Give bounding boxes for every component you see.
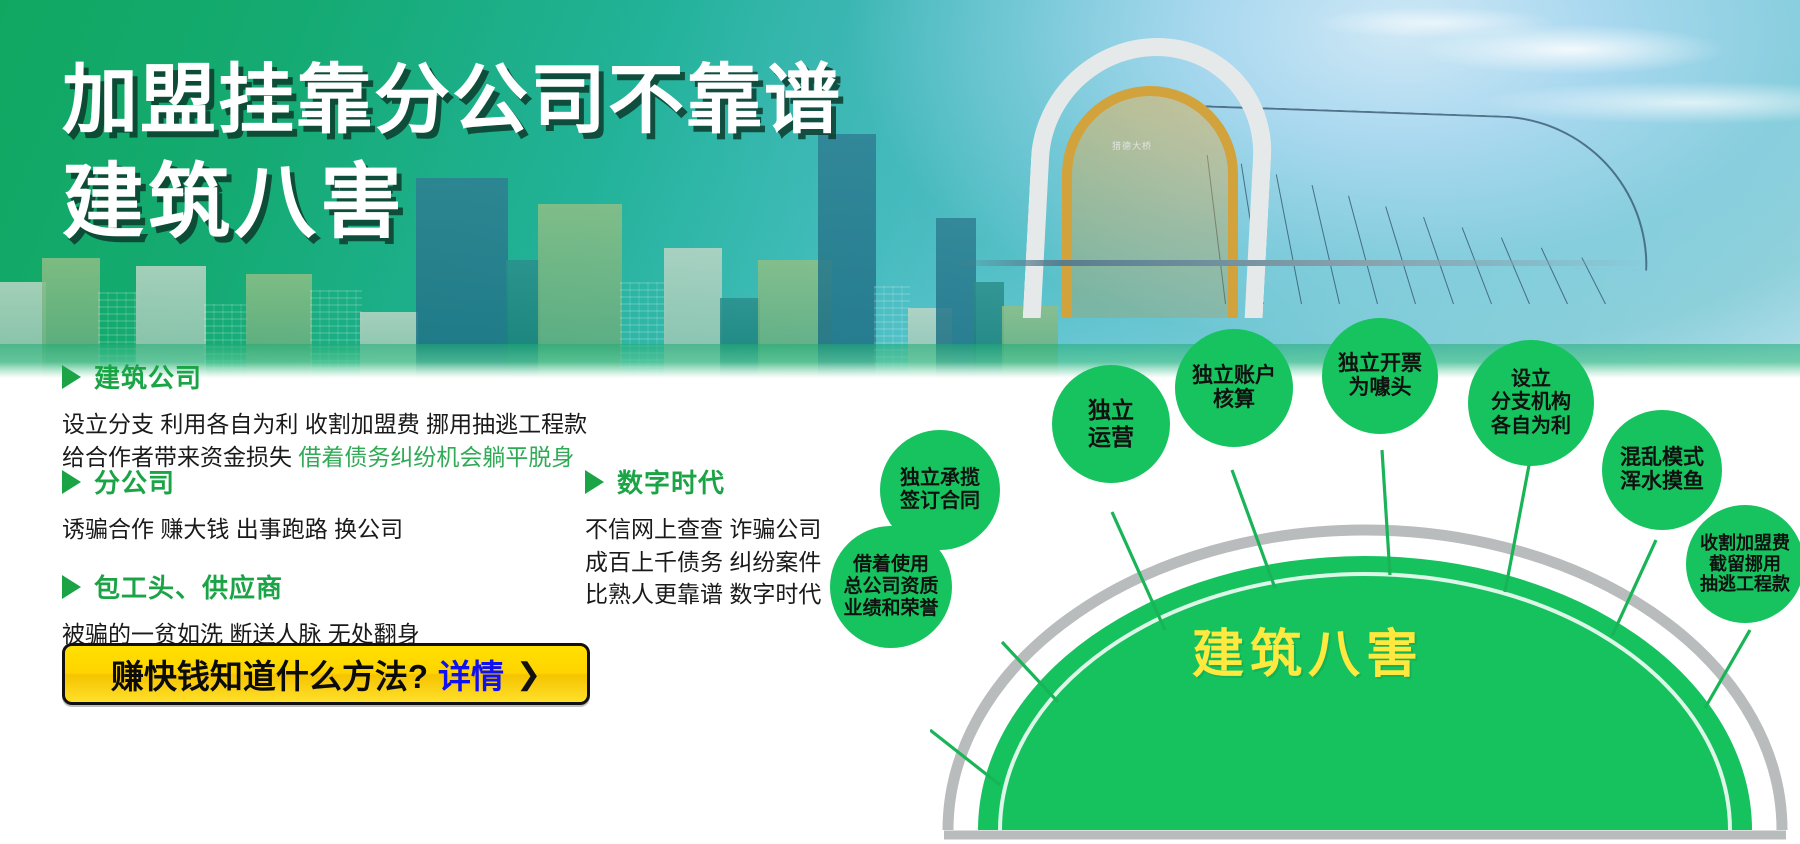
section-title: 建筑公司 <box>94 358 202 395</box>
section-header: 建筑公司 <box>62 358 587 395</box>
body-line-text: 不信网上查查 诈骗公司 <box>585 516 821 542</box>
section-header: 包工头、供应商 <box>62 568 420 605</box>
cta-link-label[interactable]: 详情 <box>438 650 504 698</box>
hero-title-block: 加盟挂靠分公司不靠谱 建筑八害 <box>62 58 842 249</box>
body-line-text: 比熟人更靠谱 数字时代 <box>585 581 821 607</box>
connector-n6 <box>1505 460 1530 592</box>
bridge-deck <box>950 260 1650 266</box>
section-body: 诱骗合作 赚大钱 出事跑路 换公司 <box>62 513 403 546</box>
node-label: 借着使用总公司资质业绩和荣誉 <box>843 554 938 620</box>
triangle-marker-icon <box>585 470 604 494</box>
body-line-text: 成百上千债务 纠纷案件 <box>585 549 821 575</box>
section-header: 数字时代 <box>585 463 821 500</box>
section-title: 数字时代 <box>617 463 725 500</box>
hero-headline-secondary: 建筑八害 <box>62 157 842 249</box>
bridge-illustration: 猎德大桥 <box>950 28 1650 318</box>
chevron-right-icon: ❯ <box>516 657 541 692</box>
section-body: 不信网上查查 诈骗公司 成百上千债务 纠纷案件 比熟人更靠谱 数字时代 <box>585 513 821 611</box>
cta-button[interactable]: 赚快钱知道什么方法? 详情 ❯ <box>62 643 590 705</box>
triangle-marker-icon <box>62 365 81 389</box>
node-label: 独立账户核算 <box>1192 364 1276 413</box>
node-label: 独立承揽签订合同 <box>900 467 980 513</box>
connector-n5 <box>1382 450 1390 575</box>
section-digital-era: 数字时代 不信网上查查 诈骗公司 成百上千债务 纠纷案件 比熟人更靠谱 数字时代 <box>585 463 821 611</box>
cta-main-label: 赚快钱知道什么方法? <box>111 650 428 698</box>
hero-headline-primary: 加盟挂靠分公司不靠谱 <box>62 58 842 143</box>
bridge-cables <box>1205 74 1645 304</box>
node-label: 混乱模式浑水摸鱼 <box>1620 446 1704 495</box>
node-label: 收割加盟费截留挪用抽逃工程款 <box>1700 533 1790 596</box>
diagram-node-n8[interactable]: 收割加盟费截留挪用抽逃工程款 <box>1686 505 1800 623</box>
hero-banner: 猎德大桥 加盟挂靠分公司不靠谱 建筑八害 <box>0 0 1800 378</box>
diagram-node-n3[interactable]: 独立运营 <box>1052 365 1170 483</box>
triangle-marker-icon <box>62 575 81 599</box>
section-title: 分公司 <box>94 463 175 500</box>
diagram-node-n7[interactable]: 混乱模式浑水摸鱼 <box>1602 410 1722 530</box>
section-title: 包工头、供应商 <box>94 568 283 605</box>
diagram-node-n2[interactable]: 独立承揽签订合同 <box>880 430 1000 550</box>
poster-root: 猎德大桥 加盟挂靠分公司不靠谱 建筑八害 建筑公司 设立分支 利用各自为利 收割… <box>0 0 1800 844</box>
diagram-node-n5[interactable]: 独立开票为噱头 <box>1322 318 1438 434</box>
diagram-node-n6[interactable]: 设立分支机构各自为利 <box>1468 340 1594 466</box>
triangle-marker-icon <box>62 470 81 494</box>
section-header: 分公司 <box>62 463 403 500</box>
node-label: 设立分支机构各自为利 <box>1491 368 1571 438</box>
eight-harms-diagram: 借着使用总公司资质业绩和荣誉 独立承揽签订合同 独立运营 独立账户核算 独立开票… <box>930 330 1800 844</box>
section-branch-company: 分公司 诱骗合作 赚大钱 出事跑路 换公司 <box>62 463 403 546</box>
bridge-arch-inner <box>1062 86 1238 318</box>
bridge-sign-label: 猎德大桥 <box>1112 139 1152 152</box>
node-label: 独立运营 <box>1088 397 1134 450</box>
diagram-node-n4[interactable]: 独立账户核算 <box>1175 329 1293 447</box>
body-line-text: 诱骗合作 赚大钱 出事跑路 换公司 <box>62 516 403 542</box>
node-label: 独立开票为噱头 <box>1338 352 1422 401</box>
dome-center-label: 建筑八害 <box>1192 612 1424 687</box>
left-content: 建筑公司 设立分支 利用各自为利 收割加盟费 挪用抽逃工程款 给合作者带来资金损… <box>0 378 940 844</box>
section-contractor-supplier: 包工头、供应商 被骗的一贫如洗 断送人脉 无处翻身 <box>62 568 420 651</box>
section-construction-company: 建筑公司 设立分支 利用各自为利 收割加盟费 挪用抽逃工程款 给合作者带来资金损… <box>62 358 587 473</box>
body-line-text: 设立分支 利用各自为利 收割加盟费 挪用抽逃工程款 <box>62 411 587 437</box>
